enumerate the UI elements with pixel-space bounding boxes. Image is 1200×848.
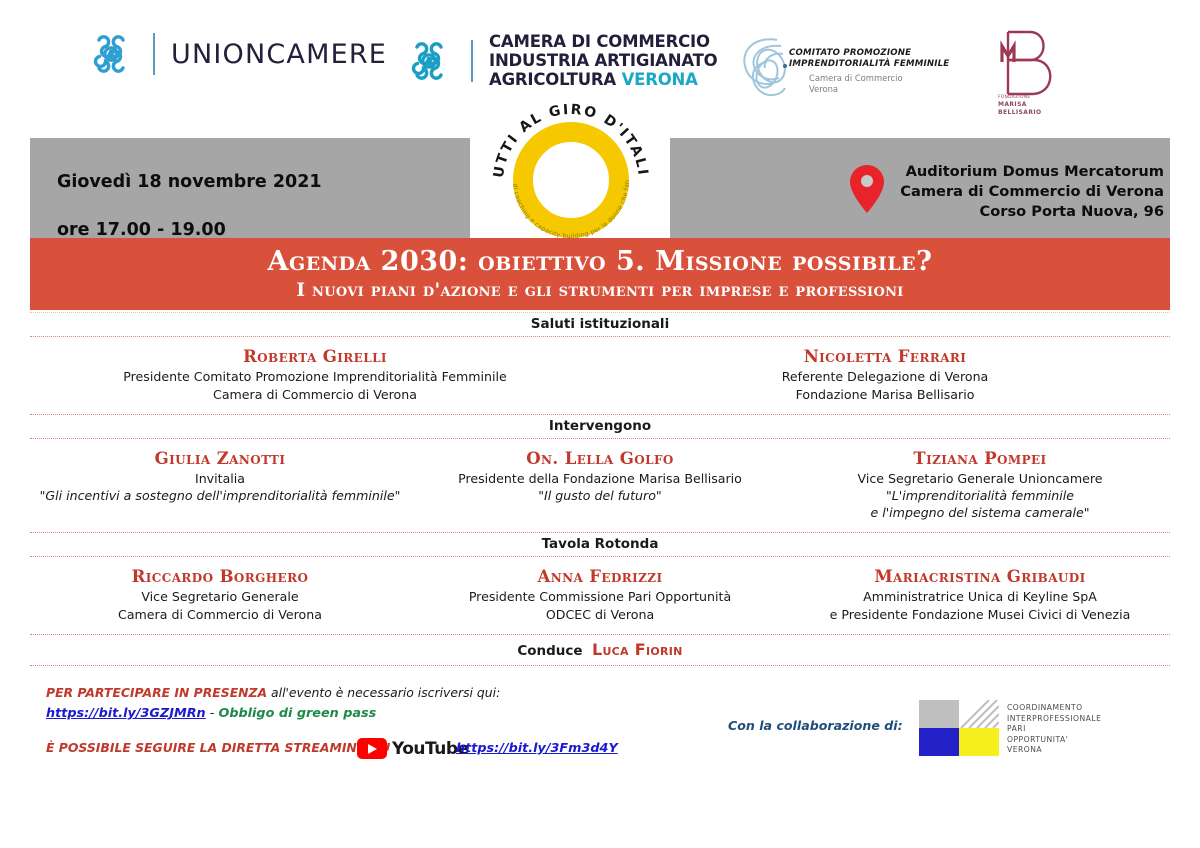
venue-line-3: Corso Porta Nuova, 96 [900,202,1164,222]
giro-ditalia-logo: TUTTI AL GIRO D'ITALIA 1° percorso di co… [487,96,655,242]
program-section: Saluti istituzionali Roberta Girelli Pre… [30,312,1170,666]
speaker-nicoletta-ferrari: Nicoletta Ferrari Referente Delegazione … [600,337,1170,414]
registration-dash: - [206,706,219,721]
bellisario-caption-small: FONDAZIONE [998,94,1041,102]
speaker-role-2: Camera di Commercio di Verona [36,606,404,623]
logo-fondazione-marisa-bellisario: FONDAZIONE MARISA BELLISARIO [990,28,1072,116]
bellisario-caption: FONDAZIONE MARISA BELLISARIO [998,94,1041,117]
svg-text:C: C [425,56,433,69]
logo-divider [153,33,155,75]
cipo-line-1: COORDINAMENTO [1007,703,1101,714]
section-heading-saluti: Saluti istituzionali [30,312,1170,337]
speaker-row-tavola-rotonda: Riccardo Borghero Vice Segretario Genera… [30,557,1170,634]
comitato-wordmark: COMITATO PROMOZIONE IMPRENDITORIALITÀ FE… [789,48,949,69]
speaker-roberta-girelli: Roberta Girelli Presidente Comitato Prom… [30,337,600,414]
unioncamere-flower-icon: C [85,28,137,80]
venue-line-2: Camera di Commercio di Verona [900,182,1164,202]
speaker-role-2: ODCEC di Verona [416,606,784,623]
page-subtitle: I nuovi piani d'azione e gli strumenti p… [296,279,903,303]
registration-note: PER PARTECIPARE IN PRESENZA all'evento è… [46,684,500,702]
speaker-quote-2: e l'impegno del sistema camerale" [796,504,1164,521]
event-date: Giovedì 18 novembre 2021 [57,158,322,206]
camera-flower-icon: C [403,35,455,87]
speaker-name: Riccardo Borghero [36,567,404,587]
speaker-mariacristina-gribaudi: Mariacristina Gribaudi Amministratrice U… [790,557,1170,634]
speaker-name: Nicoletta Ferrari [606,347,1164,367]
cipo-mark-icon [919,700,999,756]
comitato-line-1: COMITATO PROMOZIONE [789,48,949,59]
green-pass-note: Obbligo di green pass [218,706,376,721]
comitato-sub-2: Verona [809,84,903,95]
speaker-row-saluti: Roberta Girelli Presidente Comitato Prom… [30,337,1170,415]
speaker-name: Giulia Zanotti [36,449,404,469]
registration-rest: all'evento è necessario iscriversi qui: [267,685,500,700]
venue-line-1: Auditorium Domus Mercatorum [900,162,1164,182]
logo-comitato-imprenditorialita-femminile: COMITATO PROMOZIONE IMPRENDITORIALITÀ FE… [737,30,927,102]
speaker-role-1: Presidente Commissione Pari Opportunità [416,588,784,605]
streaming-link[interactable]: https://bit.ly/3Fm3d4Y [456,741,618,756]
speaker-quote-1: "L'imprenditorialità femminile [796,487,1164,504]
speaker-giulia-zanotti: Giulia Zanotti Invitalia "Gli incentivi … [30,439,410,532]
unioncamere-wordmark: UNIONCAMERE [171,39,387,70]
section-heading-tavola-rotonda: Tavola Rotonda [30,533,1170,557]
footer-section: PER PARTECIPARE IN PRESENZA all'evento è… [0,672,1200,848]
cipo-line-4: OPPORTUNITA' [1007,735,1101,746]
comitato-sub-1: Camera di Commercio [809,73,903,84]
registration-emphasis: PER PARTECIPARE IN PRESENZA [46,685,267,700]
speaker-quote-1: "Il gusto del futuro" [416,487,784,504]
speaker-role-2: e Presidente Fondazione Musei Civici di … [796,606,1164,623]
section-heading-intervengono: Intervengono [30,415,1170,439]
speaker-role-1: Vice Segretario Generale [36,588,404,605]
registration-link-line: https://bit.ly/3GZJMRn - Obbligo di gree… [46,705,376,723]
svg-text:C: C [107,49,115,62]
camera-line-2: INDUSTRIA ARTIGIANATO [489,51,718,70]
bellisario-caption-1: MARISA [998,101,1041,109]
cipo-line-5: VERONA [1007,745,1101,756]
cipo-wordmark: COORDINAMENTO INTERPROFESSIONALE PARI OP… [1007,703,1101,756]
moderator-name: Luca Fiorin [592,640,683,659]
speaker-role-1: Invitalia [36,470,404,487]
page-title: Agenda 2030: obiettivo 5. Missione possi… [268,246,933,278]
collaboration-label: Con la collaborazione di: [728,718,903,733]
speaker-tiziana-pompei: Tiziana Pompei Vice Segretario Generale … [790,439,1170,532]
speaker-riccardo-borghero: Riccardo Borghero Vice Segretario Genera… [30,557,410,634]
camera-line-3b-verona: VERONA [622,70,698,89]
cipo-line-3: PARI [1007,724,1101,735]
speaker-role-2: Camera di Commercio di Verona [36,386,594,403]
logo-divider [471,40,473,82]
speaker-row-intervengono: Giulia Zanotti Invitalia "Gli incentivi … [30,439,1170,533]
logo-unioncamere: C UNIONCAMERE [85,28,387,80]
speaker-role-1: Amministratrice Unica di Keyline SpA [796,588,1164,605]
map-pin-icon [848,163,886,215]
speaker-role-2: Fondazione Marisa Bellisario [606,386,1164,403]
speaker-name: Tiziana Pompei [796,449,1164,469]
speaker-role-1: Vice Segretario Generale Unioncamere [796,470,1164,487]
speaker-name: Mariacristina Gribaudi [796,567,1164,587]
logo-camera-di-commercio-verona: C CAMERA DI COMMERCIO INDUSTRIA ARTIGIAN… [403,32,718,89]
speaker-role-1: Presidente Comitato Promozione Imprendit… [36,368,594,385]
event-title-banner: Agenda 2030: obiettivo 5. Missione possi… [30,238,1170,310]
speaker-name: Roberta Girelli [36,347,594,367]
registration-link[interactable]: https://bit.ly/3GZJMRn [46,706,206,721]
youtube-play-icon [357,738,387,759]
speaker-anna-fedrizzi: Anna Fedrizzi Presidente Commissione Par… [410,557,790,634]
comitato-line-2: IMPRENDITORIALITÀ FEMMINILE [789,59,949,70]
speaker-name: Anna Fedrizzi [416,567,784,587]
moderator-row: Conduce Luca Fiorin [30,634,1170,666]
comitato-subtitle: Camera di Commercio Verona [809,73,903,94]
event-venue: Auditorium Domus Mercatorum Camera di Co… [900,162,1164,222]
streaming-note: È POSSIBILE SEGUIRE LA DIRETTA STREAMING… [46,740,390,755]
camera-line-1: CAMERA DI COMMERCIO [489,32,718,51]
comitato-swirl-icon [737,32,815,107]
cipo-line-2: INTERPROFESSIONALE [1007,714,1101,725]
speaker-role-1: Presidente della Fondazione Marisa Belli… [416,470,784,487]
youtube-logo[interactable]: YouTube [357,738,469,759]
speaker-role-1: Referente Delegazione di Verona [606,368,1164,385]
moderator-prefix: Conduce [517,643,582,659]
camera-line-3a: AGRICOLTURA [489,70,622,89]
speaker-quote-1: "Gli incentivi a sostegno dell'imprendit… [36,487,404,504]
speaker-name: On. Lella Golfo [416,449,784,469]
speaker-lella-golfo: On. Lella Golfo Presidente della Fondazi… [410,439,790,532]
camera-line-3: AGRICOLTURA VERONA [489,70,718,89]
camera-wordmark: CAMERA DI COMMERCIO INDUSTRIA ARTIGIANAT… [489,32,718,89]
bellisario-caption-2: BELLISARIO [998,109,1041,117]
